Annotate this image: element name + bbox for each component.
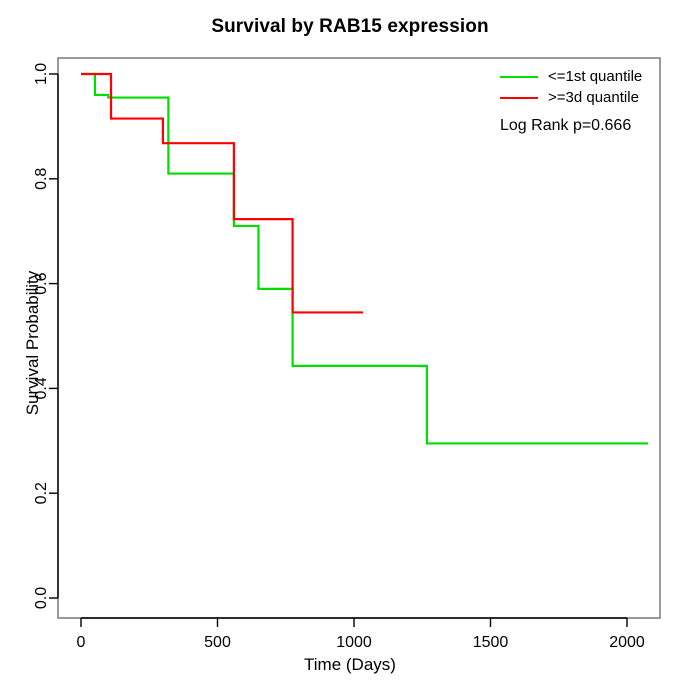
- x-tick-label: 1000: [336, 634, 372, 651]
- legend-item-first-quantile: <=1st quantile: [500, 66, 690, 87]
- x-tick-label: 2000: [609, 634, 645, 651]
- legend-swatch-red: [500, 97, 538, 99]
- x-tick-label: 1500: [473, 634, 509, 651]
- legend: <=1st quantile >=3d quantile Log Rank p=…: [500, 66, 690, 135]
- survival-plot-figure: Survival by RAB15 expression 05001000150…: [0, 0, 700, 700]
- legend-label-first-quantile: <=1st quantile: [548, 68, 642, 85]
- log-rank-pvalue-text: Log Rank p=0.666: [500, 117, 690, 135]
- x-tick-label: 500: [204, 634, 231, 651]
- survival-curve-third-quantile: [81, 74, 363, 312]
- x-axis-ticks: 0500100015002000: [77, 618, 645, 651]
- legend-swatch-green: [500, 76, 538, 78]
- y-axis-label: Survival Probability: [23, 63, 43, 623]
- axis-box: [58, 58, 660, 618]
- legend-item-third-quantile: >=3d quantile: [500, 87, 690, 108]
- x-tick-label: 0: [77, 634, 86, 651]
- x-axis-label: Time (Days): [0, 655, 700, 675]
- legend-label-third-quantile: >=3d quantile: [548, 89, 639, 106]
